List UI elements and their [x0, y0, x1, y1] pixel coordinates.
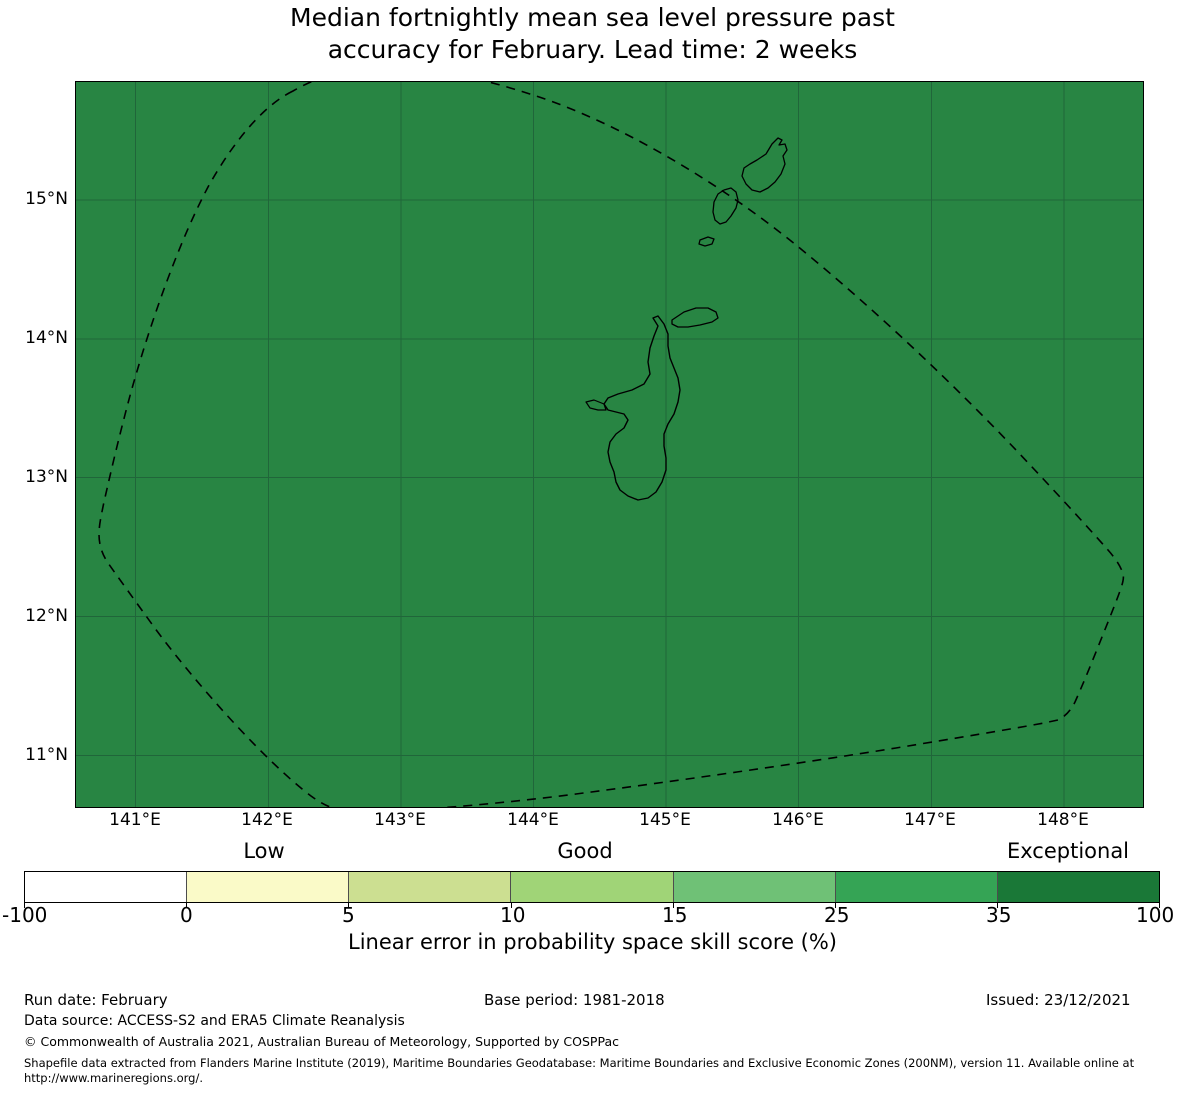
- colorbar-gradient: [24, 871, 1160, 903]
- colorbar[interactable]: [24, 871, 1160, 903]
- colorbar-ticklabel-15: 15: [662, 905, 687, 925]
- xtick-label-144e: 144°E: [507, 812, 559, 829]
- colorbar-segment-5: [673, 872, 835, 902]
- colorbar-ticklabel-25: 25: [824, 905, 849, 925]
- colorbar-segment-2: [186, 872, 348, 902]
- colorbar-segment-7: [997, 872, 1159, 902]
- footer-issued-date: Issued: 23/12/2021: [986, 991, 1131, 1009]
- colorbar-segment-6: [835, 872, 997, 902]
- page-title: Median fortnightly mean sea level pressu…: [0, 2, 1185, 66]
- xtick-label-145e: 145°E: [639, 812, 691, 829]
- colorbar-ticklabel-10: 10: [500, 905, 525, 925]
- footer-shapefile-attribution: Shapefile data extracted from Flanders M…: [24, 1056, 1174, 1086]
- colorbar-segment-1: [25, 872, 186, 902]
- ytick-label-15n: 15°N: [25, 191, 68, 208]
- footer-run-date: Run date: February: [24, 991, 168, 1009]
- xtick-label-148e: 148°E: [1037, 812, 1089, 829]
- footer-data-source: Data source: ACCESS-S2 and ERA5 Climate …: [24, 1013, 405, 1029]
- footer-base-period: Base period: 1981-2018: [484, 991, 665, 1009]
- colorbar-category-low: Low: [243, 841, 284, 862]
- footer-copyright: © Commonwealth of Australia 2021, Austra…: [24, 1034, 619, 1049]
- island-rota: [672, 308, 718, 327]
- colorbar-category-exceptional: Exceptional: [1007, 841, 1129, 862]
- ytick-label-14n: 14°N: [25, 330, 68, 347]
- colorbar-ticklabel-minus100: -100: [2, 905, 47, 925]
- colorbar-ticklabel-35: 35: [986, 905, 1011, 925]
- xtick-label-141e: 141°E: [109, 812, 161, 829]
- ytick-label-11n: 11°N: [25, 747, 68, 764]
- map-plot-area: [75, 81, 1144, 808]
- island-aguijan: [699, 237, 714, 246]
- map-svg: [76, 82, 1143, 807]
- island-guam: [604, 316, 680, 500]
- colorbar-category-good: Good: [557, 841, 612, 862]
- ytick-label-13n: 13°N: [25, 469, 68, 486]
- colorbar-ticklabel-100: 100: [1136, 905, 1174, 925]
- colorbar-axis-label: Linear error in probability space skill …: [0, 930, 1185, 954]
- colorbar-segment-3: [348, 872, 510, 902]
- xtick-label-146e: 146°E: [772, 812, 824, 829]
- island-saipan: [742, 138, 787, 192]
- colorbar-ticklabel-5: 5: [342, 905, 355, 925]
- xtick-label-143e: 143°E: [374, 812, 426, 829]
- xtick-label-142e: 142°E: [241, 812, 293, 829]
- colorbar-segment-4: [510, 872, 672, 902]
- xtick-label-147e: 147°E: [904, 812, 956, 829]
- island-guam-apra: [586, 400, 606, 410]
- ytick-label-12n: 12°N: [25, 608, 68, 625]
- colorbar-ticklabel-0: 0: [180, 905, 193, 925]
- eez-boundary: [99, 82, 1123, 807]
